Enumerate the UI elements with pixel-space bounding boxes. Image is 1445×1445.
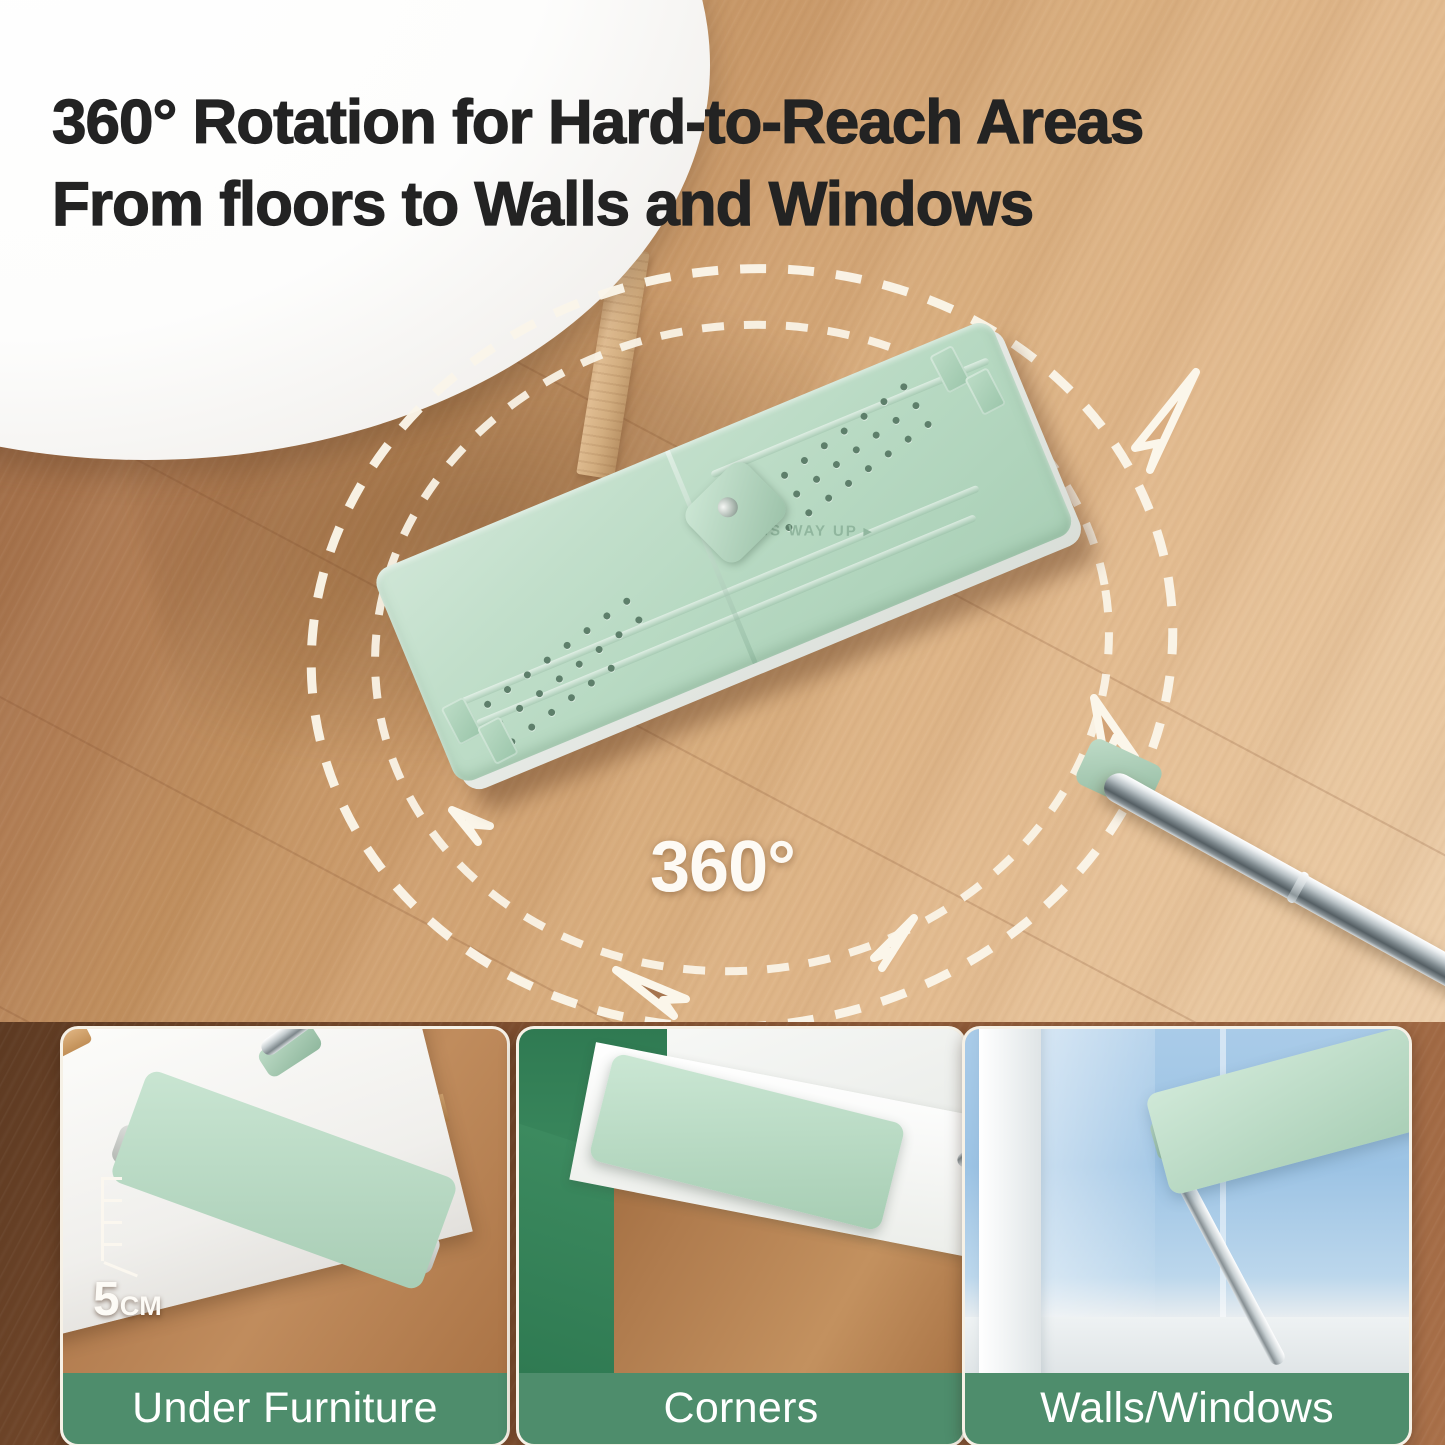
product-infographic: THIS WAY UP ▸ 360° 360° Rotation for Har… xyxy=(0,0,1445,1445)
mop-pad-assembly: THIS WAY UP ▸ xyxy=(303,163,1156,930)
under-furniture-scene: 5CM xyxy=(63,1029,507,1373)
furniture-handle xyxy=(63,1029,93,1075)
mop-cloth-clip xyxy=(929,345,971,394)
mop-cloth-clip xyxy=(440,696,482,745)
panel-corners[interactable]: Corners xyxy=(516,1026,966,1445)
rotation-arrow-bottom xyxy=(874,918,914,968)
page-headline: 360° Rotation for Hard-to-Reach Areas Fr… xyxy=(52,82,1402,246)
rotation-degrees-label: 360° xyxy=(650,826,795,908)
rotation-arrow-bottom-left xyxy=(616,970,686,1016)
panel1-caption: Under Furniture xyxy=(63,1373,507,1444)
panel2-caption: Corners xyxy=(519,1373,963,1444)
measurement-value: 5 xyxy=(93,1273,120,1326)
measurement-unit: CM xyxy=(120,1291,162,1321)
headline-line-2: From floors to Walls and Windows xyxy=(52,164,1402,246)
window-frame xyxy=(979,1029,1041,1373)
hero-scene: THIS WAY UP ▸ 360° 360° Rotation for Har… xyxy=(0,0,1445,1022)
panel-under-furniture[interactable]: 5CM Under Furniture xyxy=(60,1026,510,1445)
feature-panels-strip: 5CM Under Furniture Corners xyxy=(0,1022,1445,1445)
panel-walls-windows[interactable]: Walls/Windows xyxy=(962,1026,1412,1445)
headline-line-1: 360° Rotation for Hard-to-Reach Areas xyxy=(52,88,1143,157)
mop-cloth-clip xyxy=(964,367,1006,416)
clearance-ruler xyxy=(101,1177,138,1261)
flat-mop: THIS WAY UP ▸ xyxy=(380,276,1080,816)
mop-cloth-clip xyxy=(477,716,519,765)
corners-scene xyxy=(519,1029,963,1373)
walls-windows-scene xyxy=(965,1029,1409,1373)
clearance-measurement: 5CM xyxy=(93,1272,162,1327)
panel3-caption: Walls/Windows xyxy=(965,1373,1409,1444)
rotation-arrow-top-right xyxy=(1135,372,1196,470)
